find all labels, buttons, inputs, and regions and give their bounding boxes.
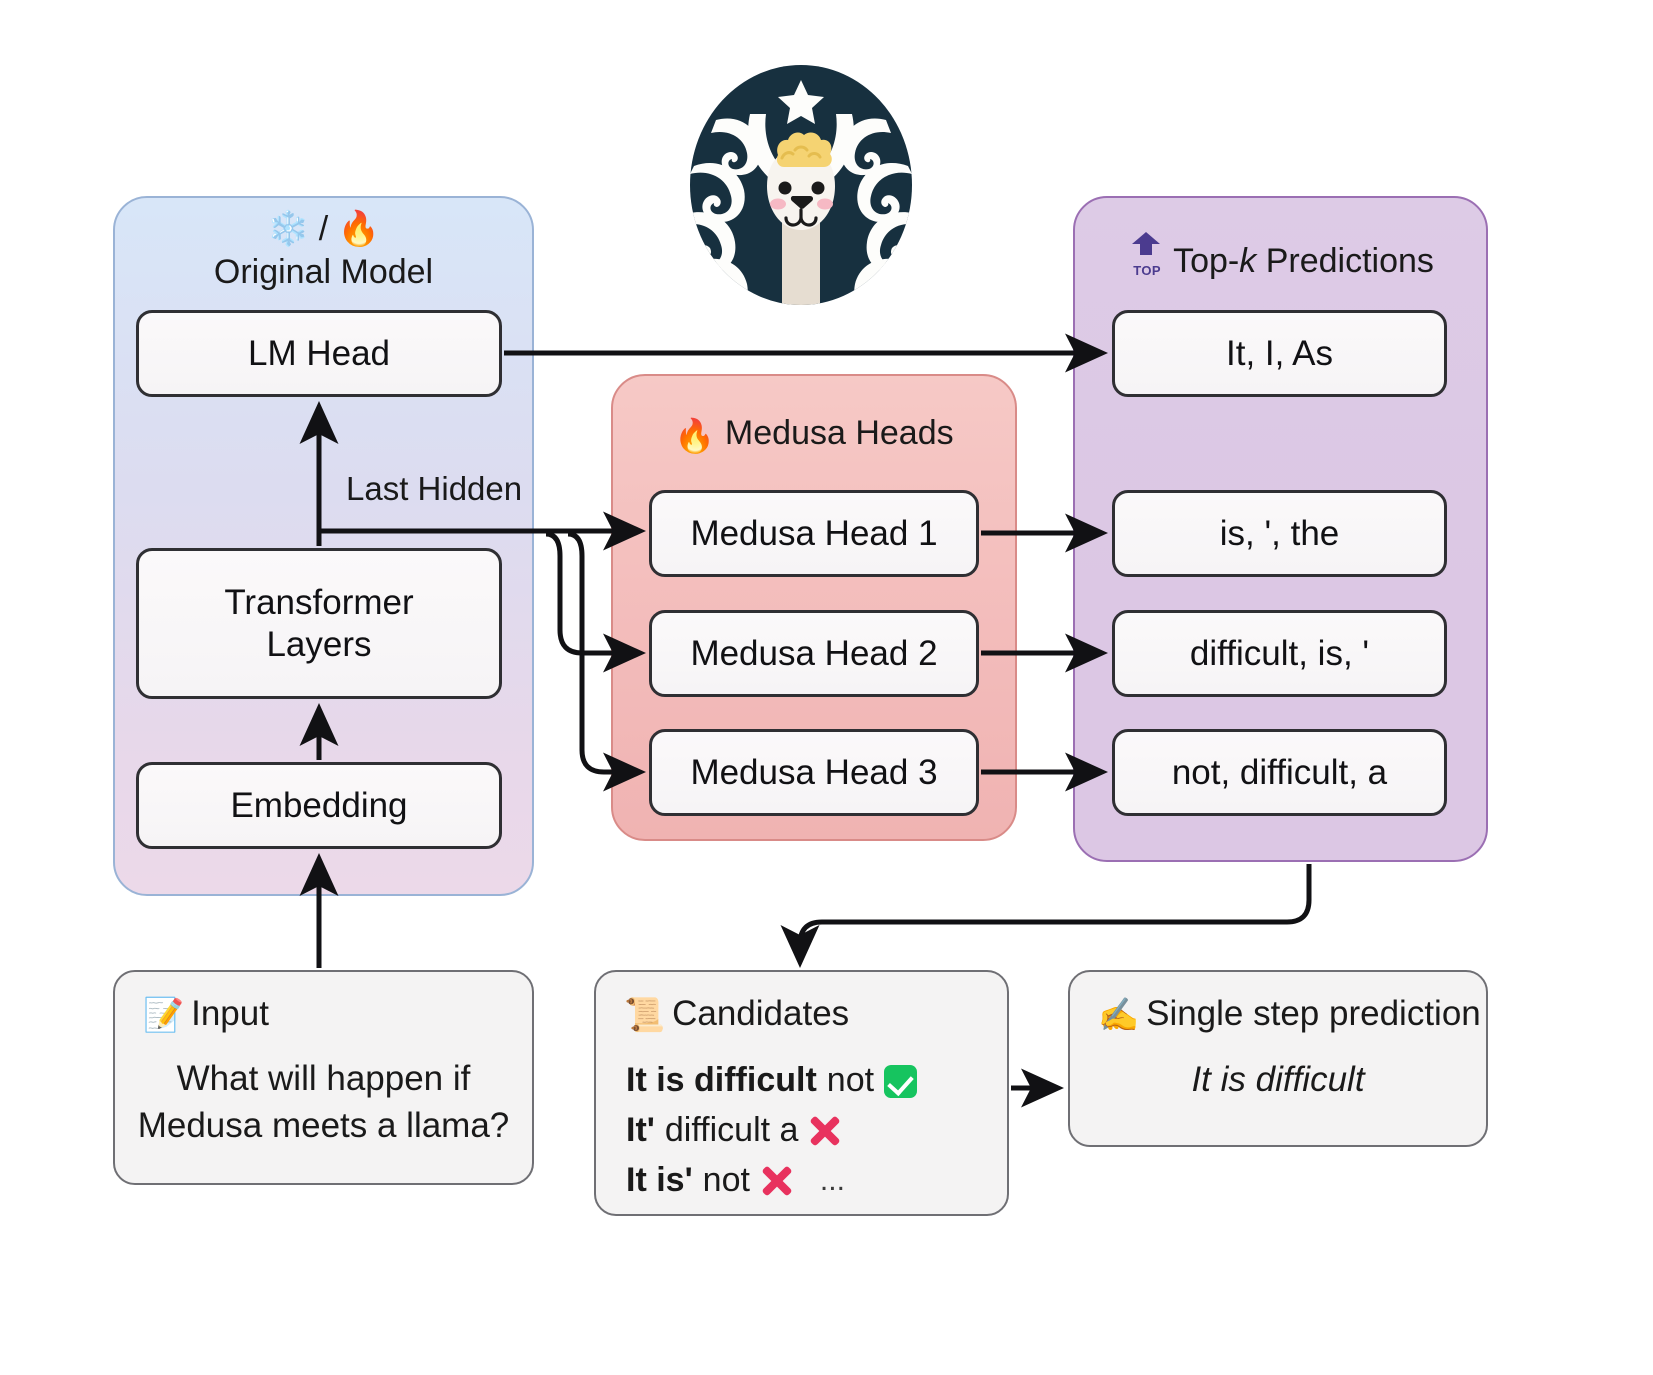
diagram-canvas: ❄️ / 🔥 Original Model 🔥 Medusa Heads TOP…: [0, 0, 1653, 1375]
panel-original-model-title: ❄️ / 🔥 Original Model: [113, 196, 534, 292]
box-input: 📝 Input What will happen if Medusa meets…: [113, 970, 534, 1185]
box-single-step-prediction: ✍️ Single step prediction It is difficul…: [1068, 970, 1488, 1147]
node-prediction-lm-head[interactable]: It, I, As: [1112, 310, 1447, 397]
candidate-row: It is difficult not: [626, 1056, 917, 1106]
node-medusa-head-3[interactable]: Medusa Head 3: [649, 729, 979, 816]
candidate-bold-prefix: It is difficult: [626, 1058, 817, 1104]
panel-medusa-heads-title: 🔥 Medusa Heads: [611, 414, 1017, 453]
node-embedding[interactable]: Embedding: [136, 762, 502, 849]
candidate-plain-suffix: not: [827, 1058, 874, 1104]
node-transformer-layers-label: Transformer Layers: [224, 582, 413, 665]
edge-topk-to-candidates: [800, 864, 1309, 962]
check-icon: [884, 1065, 917, 1098]
box-input-text: What will happen if Medusa meets a llama…: [115, 1056, 532, 1149]
candidate-ellipsis: ...: [820, 1161, 845, 1201]
candidate-plain-suffix: difficult a: [665, 1108, 799, 1154]
cross-icon: [808, 1114, 842, 1148]
memo-emoji: 📝: [143, 998, 184, 1031]
panel-topk-predictions-title: TOP Top-k Predictions: [1073, 240, 1488, 281]
top-arrow-icon: TOP: [1127, 240, 1167, 280]
candidate-row: It' difficult a: [626, 1106, 917, 1156]
panel-topk-title-prefix: Top-: [1173, 242, 1239, 280]
panel-topk-title-k: k: [1239, 242, 1256, 280]
box-candidates-header: 📜 Candidates: [624, 994, 849, 1034]
writing-hand-emoji: ✍️: [1098, 998, 1139, 1031]
node-prediction-head-3[interactable]: not, difficult, a: [1112, 729, 1447, 816]
box-single-step-header: ✍️ Single step prediction: [1098, 994, 1481, 1034]
box-candidates: 📜 Candidates It is difficult not It' dif…: [594, 970, 1009, 1216]
node-lm-head[interactable]: LM Head: [136, 310, 502, 397]
scroll-emoji: 📜: [624, 998, 665, 1031]
candidate-list: It is difficult not It' difficult a It i…: [626, 1056, 917, 1206]
medusa-llama-logo: [678, 62, 924, 308]
box-single-step-title: Single step prediction: [1146, 994, 1481, 1034]
panel-medusa-heads-label: Medusa Heads: [725, 414, 954, 452]
edge-label-last-hidden: Last Hidden: [346, 470, 522, 508]
cross-icon: [760, 1164, 794, 1198]
box-input-title: Input: [191, 994, 269, 1034]
freeze-fire-emoji: ❄️ / 🔥: [113, 196, 534, 249]
node-prediction-head-2[interactable]: difficult, is, ': [1112, 610, 1447, 697]
box-single-step-text: It is difficult: [1070, 1060, 1486, 1100]
box-input-header: 📝 Input: [143, 994, 269, 1034]
fire-emoji: 🔥: [674, 417, 715, 454]
candidate-plain-suffix: not: [703, 1158, 750, 1204]
node-prediction-head-1[interactable]: is, ', the: [1112, 490, 1447, 577]
panel-topk-title-suffix: Predictions: [1256, 242, 1434, 280]
node-transformer-layers[interactable]: Transformer Layers: [136, 548, 502, 699]
candidate-bold-prefix: It': [626, 1108, 655, 1154]
box-candidates-title: Candidates: [672, 994, 849, 1034]
candidate-bold-prefix: It is': [626, 1158, 693, 1204]
candidate-row: It is' not ...: [626, 1156, 917, 1206]
panel-original-model-label: Original Model: [113, 249, 534, 292]
node-medusa-head-1[interactable]: Medusa Head 1: [649, 490, 979, 577]
node-medusa-head-2[interactable]: Medusa Head 2: [649, 610, 979, 697]
top-arrow-icon-label: TOP: [1127, 264, 1167, 279]
